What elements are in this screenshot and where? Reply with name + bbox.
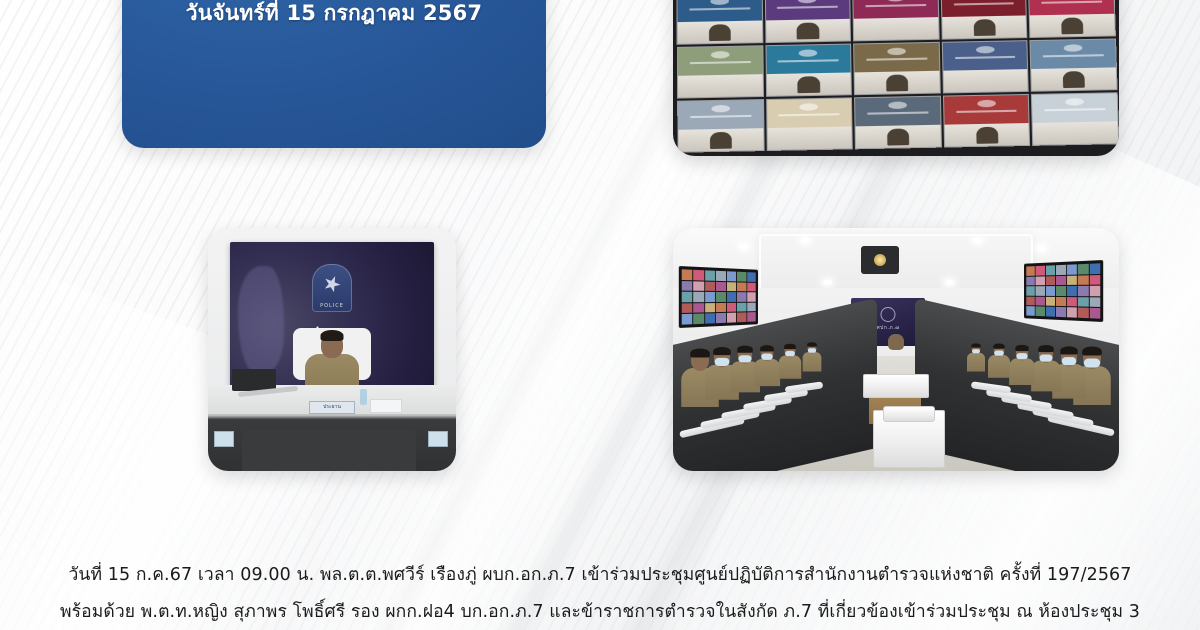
video-tile-caption-bar <box>778 59 839 63</box>
wall-display-tile <box>705 292 715 302</box>
video-tile-emblem-icon <box>887 48 906 56</box>
wall-display-tile <box>1089 308 1100 319</box>
ceiling-light <box>1037 246 1046 251</box>
wall-display-tile <box>1056 275 1066 285</box>
wall-display-tile <box>747 272 756 281</box>
video-tile <box>940 0 1027 40</box>
video-tile <box>943 94 1031 148</box>
video-tile-emblem-icon <box>1065 98 1084 106</box>
presiding-officer-photo: POLICE ศปก.ภ.๗ ประธาน <box>208 228 456 471</box>
wall-display-tile <box>1078 264 1089 274</box>
wall-display-right <box>1024 260 1103 322</box>
wall-display-tile <box>1067 297 1077 307</box>
video-tile-backdrop <box>766 45 851 74</box>
wall-display-tile <box>737 292 746 301</box>
wall-display-tile <box>716 292 726 302</box>
desk-side-panel-right <box>428 431 448 447</box>
wall-display-tile <box>1078 286 1089 296</box>
wall-display-tile <box>716 271 726 281</box>
video-tile-foreground <box>1033 121 1118 145</box>
wall-display-tile <box>694 270 705 280</box>
wall-display-tile <box>1046 276 1055 286</box>
video-tile-emblem-icon <box>711 105 730 113</box>
officer-hair <box>1038 345 1053 352</box>
wall-display-tile <box>682 281 693 291</box>
wall-display-tile <box>727 271 736 281</box>
video-tile-caption-bar <box>866 58 927 62</box>
video-tile-backdrop <box>678 46 762 75</box>
officer-hair <box>993 344 1004 349</box>
face-mask-icon <box>994 351 1004 356</box>
officer-desk: ประธาน <box>208 385 456 471</box>
video-tile <box>765 44 852 97</box>
video-tile-emblem-icon <box>798 0 817 4</box>
face-mask-icon <box>1039 355 1052 362</box>
face-mask-icon <box>808 348 816 353</box>
ceiling-light <box>973 238 982 243</box>
video-tile <box>764 0 851 43</box>
wall-display-left-grid <box>682 269 756 324</box>
video-tile <box>766 97 853 151</box>
video-tile <box>854 96 942 150</box>
wall-display-tile <box>705 303 715 313</box>
video-tile-caption-bar <box>865 4 926 8</box>
video-tile <box>942 40 1030 93</box>
caption-line-2: พร้อมด้วย พ.ต.ท.หญิง สุภาพร โพธิ์ศรี รอง… <box>0 599 1200 626</box>
wall-display-tile <box>1046 297 1055 307</box>
video-tile-backdrop <box>944 95 1029 125</box>
wall-display-tile <box>747 302 756 311</box>
wall-display-tile <box>716 313 726 323</box>
video-tile-backdrop <box>853 0 937 19</box>
wall-display-tile <box>1036 276 1045 285</box>
seated-officer <box>1009 346 1036 383</box>
video-tile-backdrop <box>765 0 849 20</box>
wall-display-tile <box>1089 286 1100 296</box>
video-tile-participant <box>710 132 732 149</box>
wall-display-tile <box>1026 296 1035 305</box>
video-tile-backdrop <box>678 100 763 130</box>
wall-display-tile <box>727 282 736 292</box>
police-badge-icon: POLICE <box>312 264 352 312</box>
wall-display-tile <box>737 313 746 323</box>
video-tile-foreground <box>678 74 763 98</box>
video-tile-backdrop <box>1032 93 1117 123</box>
face-mask-icon <box>1017 353 1028 359</box>
back-screen-emblem-icon <box>881 307 896 322</box>
officer-hair <box>1060 346 1077 354</box>
video-tile-backdrop <box>854 43 939 72</box>
video-tile <box>1028 0 1116 38</box>
wall-display-tile <box>694 281 705 291</box>
wall-display-tile <box>1067 286 1077 296</box>
video-tile-caption-bar <box>1042 1 1102 5</box>
wall-display-tile <box>747 312 756 321</box>
ceiling-light <box>739 244 748 249</box>
video-tile-caption-bar <box>1045 108 1106 112</box>
video-tile-participant <box>1063 71 1085 88</box>
face-mask-icon <box>761 353 773 359</box>
video-tile-backdrop <box>941 0 1026 17</box>
wall-display-tile <box>1089 275 1100 285</box>
video-tile-emblem-icon <box>1064 45 1083 53</box>
video-tile <box>677 99 764 153</box>
meeting-title-slide: ศูนย์ปฏิบัติการสำนักงานตำรวจแห่งชาติ ครั… <box>122 0 546 148</box>
wall-display-tile <box>1089 297 1100 307</box>
conference-room-photo: ศปก.ภ.๗ <box>673 228 1119 471</box>
officer-nameplate: ประธาน <box>309 401 355 414</box>
video-tile-emblem-icon <box>977 100 996 108</box>
wall-display-tile <box>1056 297 1066 307</box>
title-slide-text-block: ศูนย์ปฏิบัติการสำนักงานตำรวจแห่งชาติ ครั… <box>122 0 546 28</box>
officer-uniform <box>967 353 985 372</box>
officer-hair <box>807 342 817 347</box>
video-tile-caption-bar <box>690 61 751 65</box>
wall-display-tile <box>682 292 693 302</box>
video-tile <box>1030 38 1118 91</box>
event-caption: วันที่ 15 ก.ค.67 เวลา 09.00 น. พล.ต.ต.พศ… <box>0 562 1200 626</box>
wall-display-tile <box>1026 306 1035 315</box>
ceiling-light <box>945 280 954 285</box>
wall-display-tile <box>1078 275 1089 285</box>
video-tile-emblem-icon <box>888 102 907 110</box>
wall-display-tile <box>737 272 746 282</box>
video-tile <box>853 42 940 95</box>
badge-star-icon <box>321 273 343 295</box>
wall-display-right-grid <box>1026 263 1100 318</box>
far-end-participant <box>888 334 904 350</box>
wall-display-tile <box>1026 286 1035 295</box>
wall-display-tile <box>694 303 705 313</box>
video-tile-participant <box>886 74 908 91</box>
video-tile <box>677 45 764 98</box>
wall-display-tile <box>1036 307 1045 317</box>
wall-display-tile <box>705 281 715 291</box>
center-pedestal-cap <box>883 406 935 422</box>
wall-display-tile <box>1046 307 1055 317</box>
video-tile-caption-bar <box>954 2 1014 6</box>
wall-display-tile <box>1067 308 1077 318</box>
officer-hair <box>760 345 774 351</box>
badge-word-label: POLICE <box>312 303 352 309</box>
video-tile-foreground <box>854 17 938 40</box>
wall-display-tile <box>1056 286 1066 296</box>
wall-display-tile <box>1046 265 1055 275</box>
wall-display-tile <box>1056 265 1066 275</box>
video-tile-foreground <box>767 126 852 150</box>
center-pedestal-top <box>863 374 929 398</box>
video-tile-caption-bar <box>779 113 840 117</box>
video-tile <box>852 0 939 41</box>
video-tile-grid <box>676 0 1119 153</box>
wall-display-tile <box>682 269 693 280</box>
desk-paper <box>370 399 402 413</box>
wall-display-tile <box>1089 263 1100 274</box>
laptop-icon <box>232 369 276 391</box>
wall-display-tile <box>727 292 736 302</box>
water-bottle-icon <box>360 389 367 405</box>
wall-display-tile <box>1078 308 1089 318</box>
wall-display-left <box>679 266 758 328</box>
ceiling-light <box>801 238 810 243</box>
video-tile-participant <box>973 19 995 36</box>
face-mask-icon <box>1061 357 1076 365</box>
seated-officer <box>754 346 781 384</box>
wall-display-tile <box>1046 286 1055 296</box>
video-tile-backdrop <box>1031 39 1116 68</box>
video-tile-participant <box>798 76 820 93</box>
officer-uniform <box>754 358 780 385</box>
wall-display-tile <box>1067 275 1077 285</box>
officer-hair <box>737 346 753 353</box>
video-tile <box>1031 92 1119 146</box>
video-tile-emblem-icon <box>710 0 729 5</box>
projector-lens-icon <box>874 254 886 266</box>
face-mask-icon <box>715 358 730 366</box>
wall-display-tile <box>694 292 705 302</box>
face-mask-icon <box>972 349 980 353</box>
desk-side-panel-left <box>214 431 234 447</box>
video-tile-participant <box>797 22 819 39</box>
desk-front-panel <box>242 429 416 471</box>
video-tile-caption-bar <box>777 6 837 10</box>
video-tile-backdrop <box>677 0 761 22</box>
seated-officer <box>778 344 801 376</box>
wall-display-tile <box>1026 276 1035 285</box>
wall-display-tile <box>737 282 746 291</box>
face-mask-icon <box>785 351 795 356</box>
video-conference-wall-photo <box>673 0 1119 156</box>
video-tile-emblem-icon <box>711 51 730 59</box>
wall-display-tile <box>1056 307 1066 317</box>
video-tile-caption-bar <box>1043 54 1104 58</box>
video-tile-emblem-icon <box>976 46 995 54</box>
video-tile-caption-bar <box>690 115 751 119</box>
poster-canvas: ศูนย์ปฏิบัติการสำนักงานตำรวจแห่งชาติ ครั… <box>0 0 1200 630</box>
wall-display-tile <box>1078 297 1089 307</box>
video-tile-backdrop <box>855 97 940 127</box>
ceiling-light <box>823 280 832 285</box>
officer-uniform <box>988 355 1010 378</box>
seated-officer <box>802 343 822 370</box>
video-tile-emblem-icon <box>886 0 905 2</box>
video-tile-backdrop <box>767 98 852 128</box>
wall-display-tile <box>1036 286 1045 295</box>
video-tile-participant <box>976 126 998 143</box>
officer-uniform <box>778 355 801 378</box>
wall-display-tile <box>716 281 726 291</box>
wall-display-tile <box>727 303 736 313</box>
wall-display-tile <box>747 292 756 301</box>
wall-display-tile <box>1036 266 1045 276</box>
officer-hair <box>321 330 344 341</box>
seated-officer <box>988 345 1011 377</box>
face-mask-icon <box>738 356 751 363</box>
video-tile-caption-bar <box>867 111 928 115</box>
wall-display-tile <box>716 303 726 313</box>
officer-hair <box>784 343 796 348</box>
video-tile <box>676 0 763 45</box>
video-tile-emblem-icon <box>799 50 818 58</box>
wall-display-tile <box>705 314 715 324</box>
caption-line-1: วันที่ 15 ก.ค.67 เวลา 09.00 น. พล.ต.ต.พศ… <box>0 562 1200 589</box>
wall-display-tile <box>694 314 705 324</box>
ceiling-projector-icon <box>861 246 899 274</box>
wall-display-tile <box>705 270 715 280</box>
officer-hair <box>1016 345 1029 351</box>
officer-uniform <box>803 352 822 372</box>
video-tile-participant <box>887 128 909 145</box>
wall-display-tile <box>682 303 693 313</box>
officer-hair <box>971 343 980 347</box>
video-tile-caption-bar <box>955 56 1016 60</box>
video-tile-backdrop <box>943 41 1028 70</box>
wall-display-tile <box>747 282 756 291</box>
video-tile-caption-bar <box>956 110 1017 114</box>
video-tile-emblem-icon <box>800 103 819 111</box>
video-tile-participant <box>709 24 731 41</box>
video-tile-foreground <box>943 69 1028 92</box>
wall-display-tile <box>737 303 746 312</box>
wall-display-tile <box>682 314 693 325</box>
video-tile-participant <box>1061 17 1083 34</box>
video-tile-caption-bar <box>689 7 749 11</box>
wall-display-tile <box>727 313 736 323</box>
officer-uniform <box>1010 358 1036 385</box>
wall-display-tile <box>1026 266 1035 275</box>
wall-display-tile <box>1036 297 1045 306</box>
seated-officer <box>967 344 986 370</box>
title-slide-line-3: วันจันทร์ที่ 15 กรกฎาคม 2567 <box>140 0 528 28</box>
wall-display-tile <box>1067 264 1077 274</box>
